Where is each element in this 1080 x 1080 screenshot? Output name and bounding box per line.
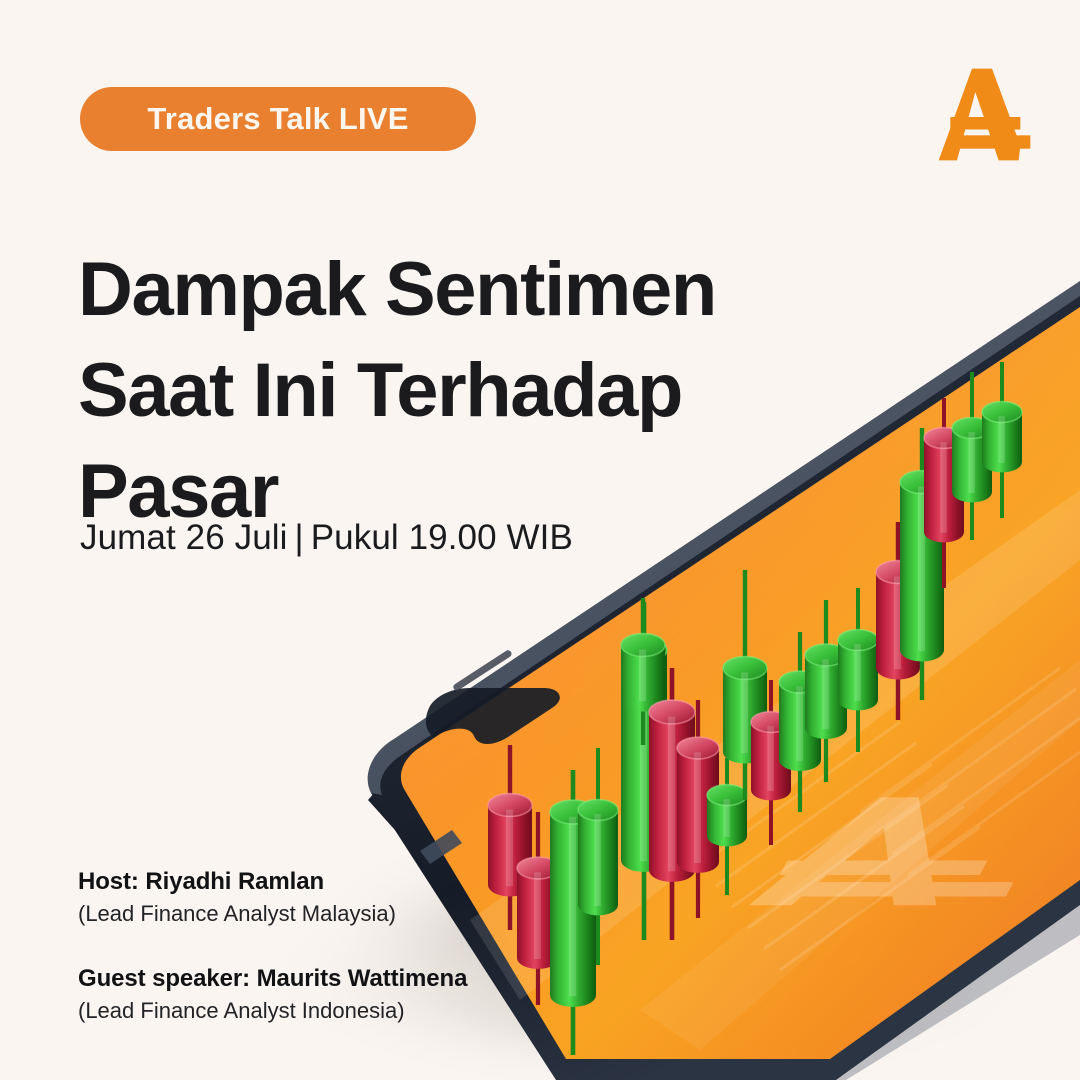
guest-name: Guest speaker: Maurits Wattimena [78, 963, 598, 994]
schedule-date: Jumat 26 Juli [80, 518, 288, 557]
host-credit: Host: Riyadhi Ramlan (Lead Finance Analy… [78, 866, 598, 929]
host-role: (Lead Finance Analyst Malaysia) [78, 899, 598, 929]
live-badge[interactable]: Traders Talk LIVE [80, 87, 476, 151]
schedule-time: Pukul 19.00 WIB [311, 518, 573, 557]
credits-block: Host: Riyadhi Ramlan (Lead Finance Analy… [78, 866, 598, 1026]
schedule-line: Jumat 26 Juli|Pukul 19.00 WIB [80, 518, 573, 558]
live-badge-label: Traders Talk LIVE [147, 101, 408, 137]
promo-poster: Traders Talk LIVE Dampak Sentimen Saat I… [0, 0, 1080, 1080]
host-name: Host: Riyadhi Ramlan [78, 866, 598, 897]
guest-role: (Lead Finance Analyst Indonesia) [78, 996, 598, 1026]
page-title: Dampak Sentimen Saat Ini Terhadap Pasar [78, 239, 818, 542]
atlas-a-logo-icon [932, 62, 1032, 167]
guest-credit: Guest speaker: Maurits Wattimena (Lead F… [78, 963, 598, 1026]
schedule-separator: | [288, 518, 311, 557]
